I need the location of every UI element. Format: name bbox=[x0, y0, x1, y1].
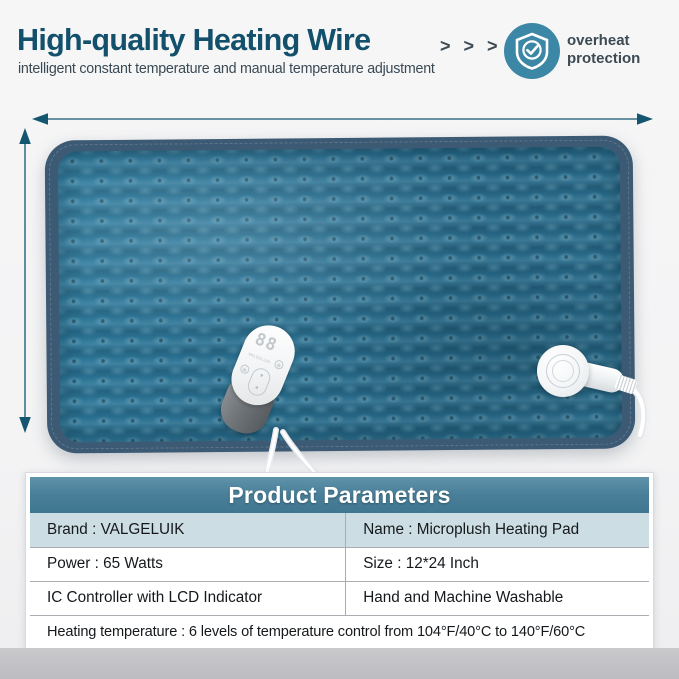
overheat-protection-badge bbox=[504, 23, 560, 79]
clock-icon: ⎈ bbox=[240, 366, 249, 374]
table-row: IC Controller with LCD Indicator Hand an… bbox=[30, 581, 649, 615]
product-photo: 88 VALGELUIK ⎈ ⎈ ▾ ▴ bbox=[40, 130, 638, 475]
chevron-arrows: > > > bbox=[440, 36, 502, 57]
row-controller-right: Hand and Machine Washable bbox=[346, 581, 649, 615]
row-power-right: Size : 12*24 Inch bbox=[346, 547, 649, 581]
chevron-up-icon: ▴ bbox=[248, 382, 266, 394]
timer-button[interactable]: ⎈ bbox=[239, 363, 251, 375]
chevron-down-icon: ▾ bbox=[252, 370, 270, 382]
round-power-connector[interactable] bbox=[537, 345, 589, 397]
row-controller-left: IC Controller with LCD Indicator bbox=[30, 581, 346, 615]
page-subtitle: intelligent constant temperature and man… bbox=[18, 62, 435, 76]
row-power-left: Power : 65 Watts bbox=[30, 547, 346, 581]
temperature-stepper[interactable]: ▾ ▴ bbox=[245, 365, 273, 398]
width-dimension-arrow bbox=[32, 112, 653, 126]
table-row: Heating temperature : 6 levels of temper… bbox=[30, 615, 649, 649]
header-section: High-quality Heating Wire intelligent co… bbox=[0, 0, 679, 95]
table-row: Brand : VALGELUIK Name : Microplush Heat… bbox=[30, 513, 649, 547]
infographic-canvas: High-quality Heating Wire intelligent co… bbox=[0, 0, 679, 679]
table-row: Power : 65 Watts Size : 12*24 Inch bbox=[30, 547, 649, 581]
parameters-table: Brand : VALGELUIK Name : Microplush Heat… bbox=[30, 513, 649, 650]
overheat-protection-label: overheat protection bbox=[567, 32, 640, 67]
power-button[interactable]: ⎈ bbox=[273, 359, 285, 371]
row-brand-right: Name : Microplush Heating Pad bbox=[346, 513, 649, 547]
pad-light-sheen bbox=[58, 147, 623, 443]
overheat-label-line1: overheat bbox=[567, 32, 640, 50]
parameters-title: Product Parameters bbox=[30, 477, 649, 513]
lcd-display: 88 bbox=[252, 331, 279, 355]
bottom-band bbox=[0, 648, 679, 679]
power-icon: ⎈ bbox=[274, 362, 283, 370]
product-parameters-panel: Product Parameters Brand : VALGELUIK Nam… bbox=[25, 472, 654, 655]
page-title: High-quality Heating Wire bbox=[17, 25, 370, 56]
heating-pad-surface bbox=[58, 147, 623, 443]
heating-pad bbox=[45, 135, 636, 453]
row-heating-temperature: Heating temperature : 6 levels of temper… bbox=[30, 615, 649, 649]
shield-check-icon bbox=[514, 31, 550, 71]
height-dimension-arrow bbox=[18, 128, 32, 433]
overheat-label-line2: protection bbox=[567, 50, 640, 68]
row-brand-left: Brand : VALGELUIK bbox=[30, 513, 346, 547]
